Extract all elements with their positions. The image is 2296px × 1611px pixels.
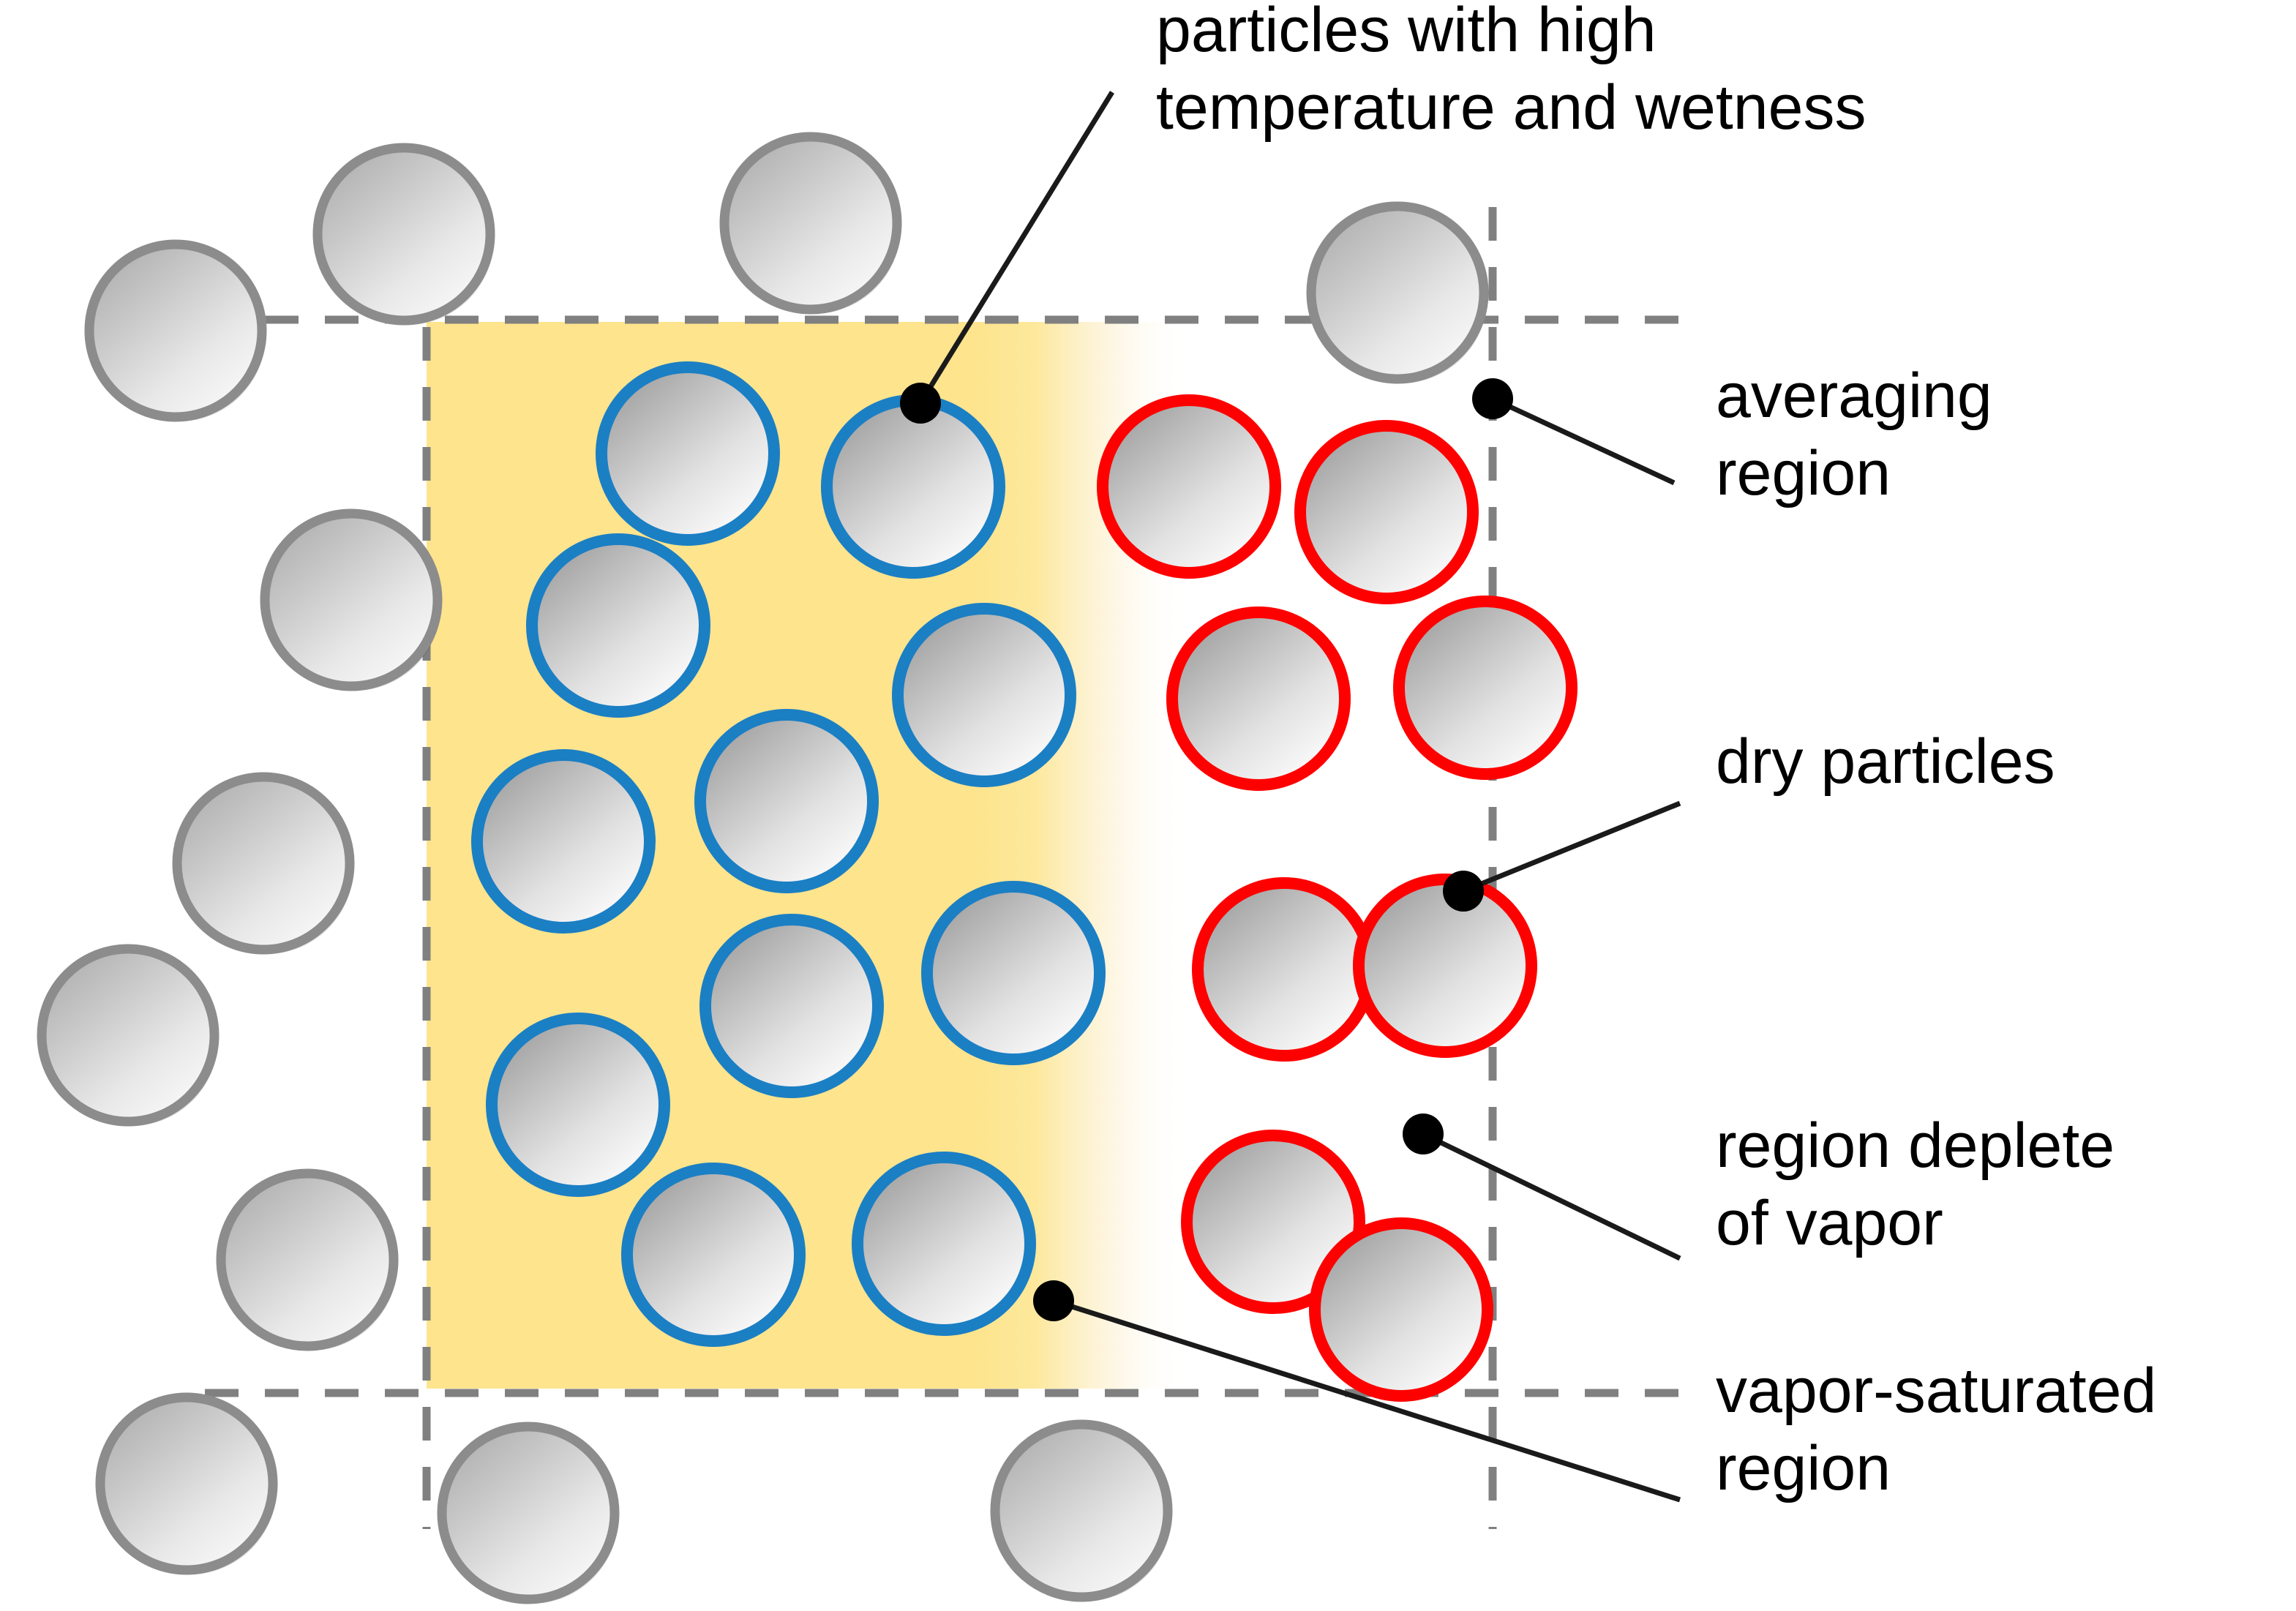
- wet-particle: [477, 755, 653, 932]
- averaging-region-diagram: particles with hightemperature and wetne…: [0, 0, 2296, 1611]
- wet-particle: [532, 539, 708, 716]
- wet-particle: [492, 1018, 668, 1195]
- label-dry-particles: dry particles: [1716, 726, 2055, 797]
- leader-dot: [1443, 871, 1484, 912]
- outside-particle: [221, 1173, 397, 1351]
- outside-particle: [318, 148, 494, 325]
- label-line: region: [1716, 1433, 1891, 1503]
- leader-dot: [1472, 378, 1513, 419]
- outside-particle: [724, 137, 901, 314]
- label-line: region deplete: [1716, 1111, 2115, 1181]
- label-averaging-region: averagingregion: [1716, 361, 1992, 508]
- leader-line: [1493, 399, 1674, 483]
- dry-particle: [1315, 1223, 1491, 1400]
- label-particles-high-temp-wetness: particles with hightemperature and wetne…: [1156, 0, 1866, 143]
- label-line: dry particles: [1716, 726, 2055, 797]
- wet-particle: [858, 1157, 1034, 1334]
- wet-particle: [705, 920, 882, 1097]
- label-line: particles with high: [1156, 0, 1657, 65]
- annotation-region-deplete-of-vapor: region depleteof vapor: [1403, 1111, 2115, 1258]
- label-region-deplete-of-vapor: region depleteof vapor: [1716, 1111, 2115, 1258]
- label-line: of vapor: [1716, 1188, 1943, 1258]
- wet-particle: [898, 609, 1074, 786]
- outside-particle: [265, 514, 441, 691]
- outside-particle: [442, 1427, 618, 1604]
- leader-dot: [1403, 1114, 1444, 1154]
- leader-dot: [1033, 1280, 1074, 1321]
- wet-particle: [827, 400, 1003, 577]
- outside-particle: [995, 1424, 1171, 1601]
- dry-particle: [1399, 601, 1575, 778]
- leader-dot: [900, 383, 941, 424]
- dry-particle: [1198, 883, 1374, 1060]
- label-line: averaging: [1716, 361, 1992, 431]
- label-line: temperature and wetness: [1156, 72, 1866, 143]
- annotation-averaging-region: averagingregion: [1472, 361, 1992, 508]
- label-vapor-saturated-region: vapor-saturatedregion: [1716, 1356, 2156, 1503]
- outside-particle: [89, 244, 266, 421]
- label-line: vapor-saturated: [1716, 1356, 2156, 1426]
- label-line: region: [1716, 438, 1891, 508]
- wet-particle: [601, 367, 778, 544]
- dry-particle: [1103, 400, 1279, 577]
- wet-particle: [927, 887, 1103, 1064]
- outside-particle: [42, 949, 218, 1126]
- leader-line: [1423, 1134, 1680, 1258]
- dry-particle: [1172, 612, 1348, 789]
- diagram-canvas: particles with hightemperature and wetne…: [0, 0, 2296, 1611]
- outside-particle: [1311, 206, 1487, 383]
- outside-particle: [100, 1397, 277, 1574]
- dry-particle: [1300, 426, 1477, 603]
- dry-particle: [1359, 879, 1535, 1056]
- outside-particle: [177, 777, 353, 954]
- wet-particle: [700, 715, 877, 892]
- wet-particle: [627, 1168, 803, 1345]
